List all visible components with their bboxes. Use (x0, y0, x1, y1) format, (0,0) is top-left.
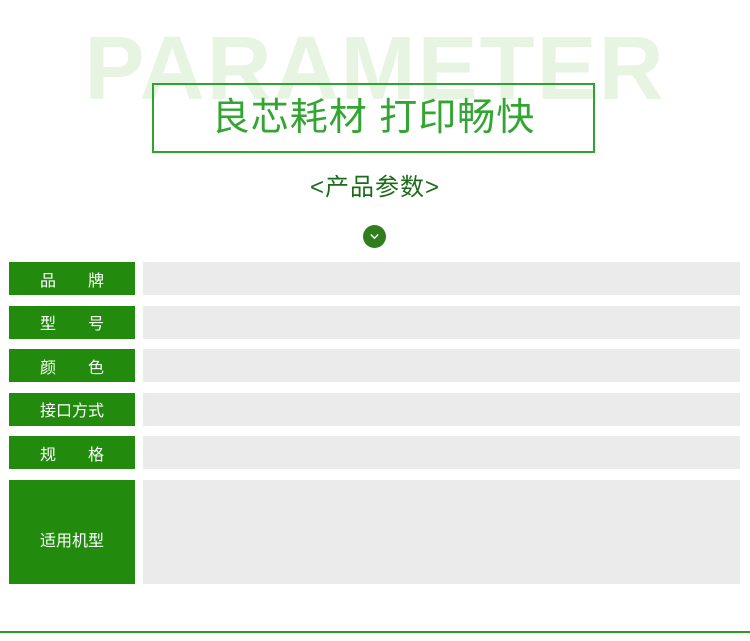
table-row: 接口方式 (0, 393, 750, 426)
spec-label-compatible-models: 适用机型 (9, 480, 135, 584)
hero-section: PARAMETER 良芯耗材 打印畅快 <产品参数> (0, 0, 750, 262)
spec-label-brand: 品 牌 (9, 262, 135, 295)
spec-value-brand[interactable] (143, 262, 740, 295)
spec-label-color: 颜 色 (9, 349, 135, 382)
page-title: 良芯耗材 打印畅快 (212, 99, 536, 137)
spec-value-color[interactable] (143, 349, 740, 382)
spec-label-specification: 规 格 (9, 436, 135, 469)
spec-label-model: 型 号 (9, 306, 135, 339)
spec-value-model[interactable] (143, 306, 740, 339)
spec-label-interface: 接口方式 (9, 393, 135, 426)
section-subtitle: <产品参数> (0, 176, 750, 200)
chevron-down-icon (368, 230, 381, 243)
spec-value-specification[interactable] (143, 436, 740, 469)
title-box: 良芯耗材 打印畅快 (152, 83, 595, 153)
spec-value-interface[interactable] (143, 393, 740, 426)
table-row: 规 格 (0, 436, 750, 469)
table-row: 适用机型 (0, 480, 750, 584)
spec-table: 品 牌 型 号 颜 色 接口方式 规 格 适用机型 (0, 262, 750, 594)
table-row: 型 号 (0, 306, 750, 339)
spec-value-compatible-models[interactable] (143, 480, 740, 584)
table-row: 品 牌 (0, 262, 750, 295)
table-row: 颜 色 (0, 349, 750, 382)
footer-divider (0, 631, 750, 633)
chevron-down-badge[interactable] (363, 225, 386, 248)
